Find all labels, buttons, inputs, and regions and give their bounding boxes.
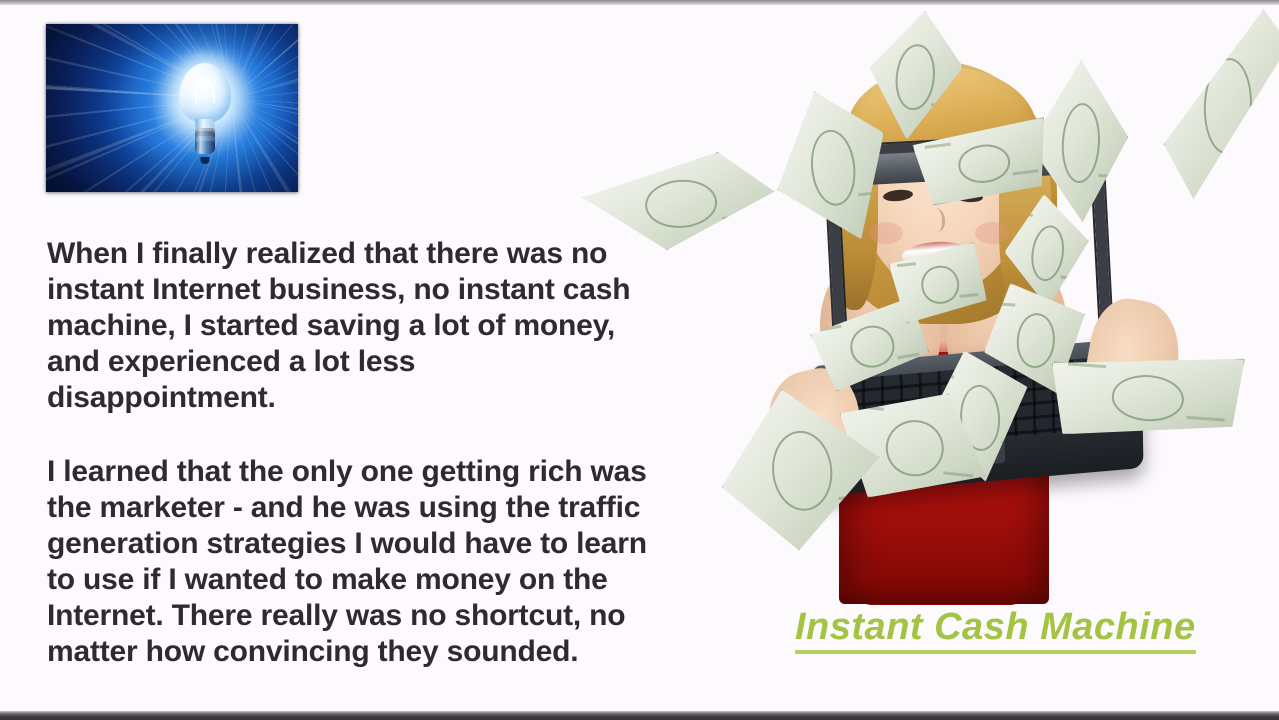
body-paragraph-1: When I finally realized that there was n… xyxy=(47,236,647,416)
headline-instant-cash-machine: Instant Cash Machine xyxy=(795,606,1196,654)
bottom-letterbox-bar xyxy=(0,711,1279,720)
cash-machine-photo xyxy=(575,0,1279,600)
dollar-bill xyxy=(1162,6,1279,202)
body-paragraph-2: I learned that the only one getting rich… xyxy=(47,454,647,670)
lightbulb-image xyxy=(46,24,298,192)
slide-canvas: When I finally realized that there was n… xyxy=(0,0,1279,720)
headline-underline xyxy=(795,650,1196,654)
dollar-bill xyxy=(580,148,778,255)
headline-text: Instant Cash Machine xyxy=(795,606,1196,648)
lightbulb-vignette xyxy=(46,24,298,192)
